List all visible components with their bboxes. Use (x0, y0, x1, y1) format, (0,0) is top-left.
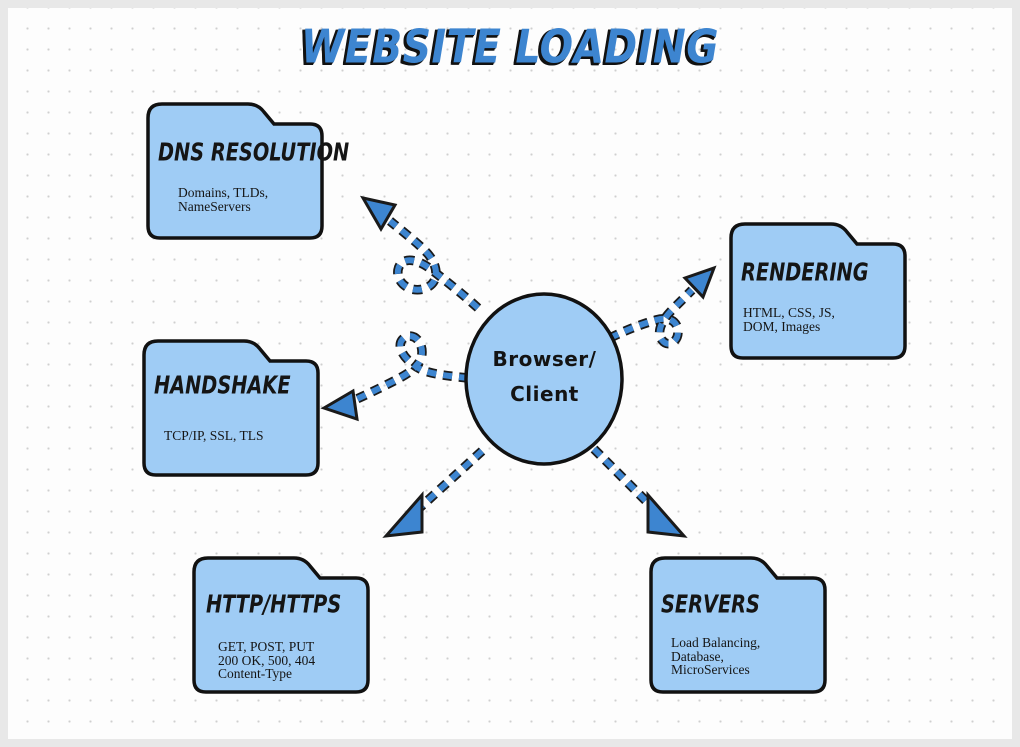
node-dns-resolution[interactable]: DNS RESOLUTION Domains, TLDs, NameServer… (140, 96, 330, 246)
node-body: HTML, CSS, JS, DOM, Images (743, 306, 835, 333)
diagram-canvas[interactable]: WEBSITE LOADING .conn { fill: none; stro… (8, 8, 1012, 739)
node-title: RENDERING (741, 258, 869, 286)
center-label-line-1: Browser/ (462, 342, 627, 377)
node-http-https[interactable]: HTTP/HTTPS GET, POST, PUT 200 OK, 500, 4… (186, 550, 376, 700)
center-label-line-2: Client (462, 377, 627, 412)
connector-to-dns (363, 198, 478, 308)
node-body: TCP/IP, SSL, TLS (164, 429, 264, 443)
page-title: WEBSITE LOADING (28, 20, 992, 74)
node-title: DNS RESOLUTION (158, 138, 349, 166)
node-body: GET, POST, PUT 200 OK, 500, 404 Content-… (218, 640, 315, 681)
node-body: Load Balancing, Database, MicroServices (671, 636, 760, 677)
connector-to-handshake (324, 336, 468, 419)
node-title: SERVERS (661, 590, 760, 618)
node-rendering[interactable]: RENDERING HTML, CSS, JS, DOM, Images (723, 216, 913, 366)
node-title: HTTP/HTTPS (206, 590, 341, 618)
center-label: Browser/ Client (462, 342, 627, 412)
node-handshake[interactable]: HANDSHAKE TCP/IP, SSL, TLS (136, 333, 326, 483)
node-browser-client[interactable]: Browser/ Client (462, 290, 627, 468)
node-title: HANDSHAKE (154, 371, 291, 399)
node-body: Domains, TLDs, NameServers (178, 186, 268, 213)
whiteboard-frame: WEBSITE LOADING .conn { fill: none; stro… (0, 0, 1020, 747)
node-servers[interactable]: SERVERS Load Balancing, Database, MicroS… (643, 550, 833, 700)
